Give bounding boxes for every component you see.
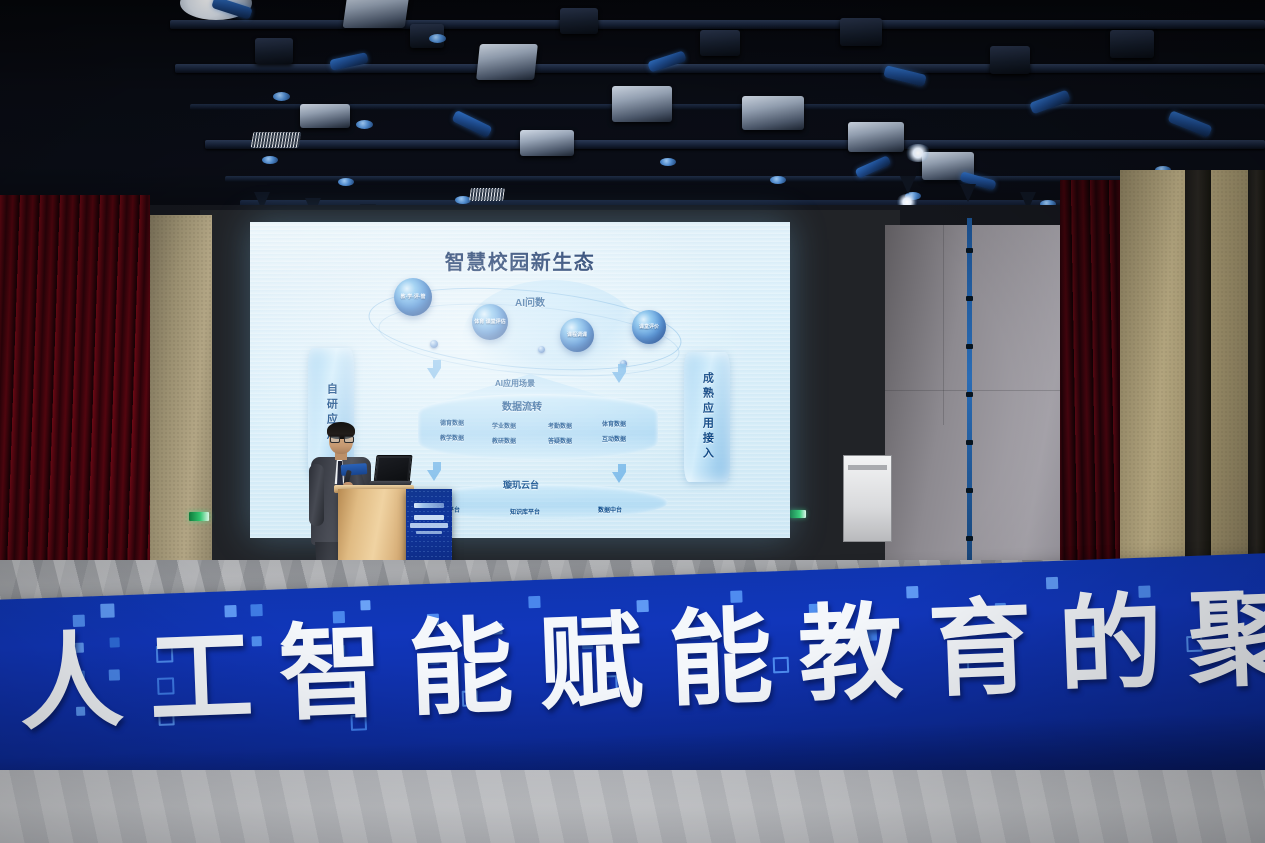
flow-arrow-icon [612,472,626,483]
banner-text: 人工智能赋能教育的聚变跨越 [17,583,1265,737]
slide-sphere: 课程调课 [560,318,594,352]
stage-photo: 智慧校园新生态 自研应用 成熟应用接入 教-学-评-管 体育 课堂评估 课程调课… [0,0,1265,843]
spotlight-glow [905,144,931,162]
glasses-icon [330,436,352,441]
acoustic-panel-left [140,215,212,600]
band-label-platform: 璇玑云台 [503,478,539,491]
slide-sphere-label: 课堂评价 [637,324,661,330]
slide-sphere-label: 教-学-评-管 [399,294,428,300]
band-label-dataflow: 数据流转 [502,398,542,413]
slide-sphere: 体育 课堂评估 [472,304,508,340]
orbit-label: AI问数 [515,294,545,309]
microphone-flag [341,463,368,476]
flow-arrow-icon [427,368,441,379]
flow-arrow-icon [427,470,441,481]
exit-sign-icon [790,510,806,518]
slide-sphere-label: 体育 课堂评估 [472,319,507,325]
slide-sphere: 教-学-评-管 [394,278,432,316]
band-label-scenarios: AI应用场景 [495,378,535,389]
slide-sphere: 课堂评价 [632,310,666,344]
data-cell: 互动数据 [602,434,626,443]
data-cell: 体育数据 [602,419,626,428]
data-cell: 德育数据 [440,418,464,427]
data-cell: 学业数据 [492,421,516,430]
data-cell: 考勤数据 [548,421,572,430]
slide-pillar-right-label: 成熟应用接入 [701,372,714,462]
exit-sign-icon [189,512,209,521]
flow-arrow-icon [612,372,626,383]
floor-foreground [0,770,1265,843]
slide-sphere-label: 课程调课 [565,332,589,338]
organization-logo [414,503,444,508]
screen-support-pole [967,218,972,618]
equipment-cabinet [843,455,892,542]
platform-item: 知识库平台 [510,507,540,516]
platform-item: 数据中台 [598,505,622,514]
slide-title: 智慧校园新生态 [250,246,790,275]
data-cell: 答疑数据 [548,436,572,445]
laptop [369,455,409,487]
data-cell: 教研数据 [492,436,516,445]
data-cell: 教学数据 [440,433,464,442]
slide-pillar-right: 成熟应用接入 [684,352,730,482]
